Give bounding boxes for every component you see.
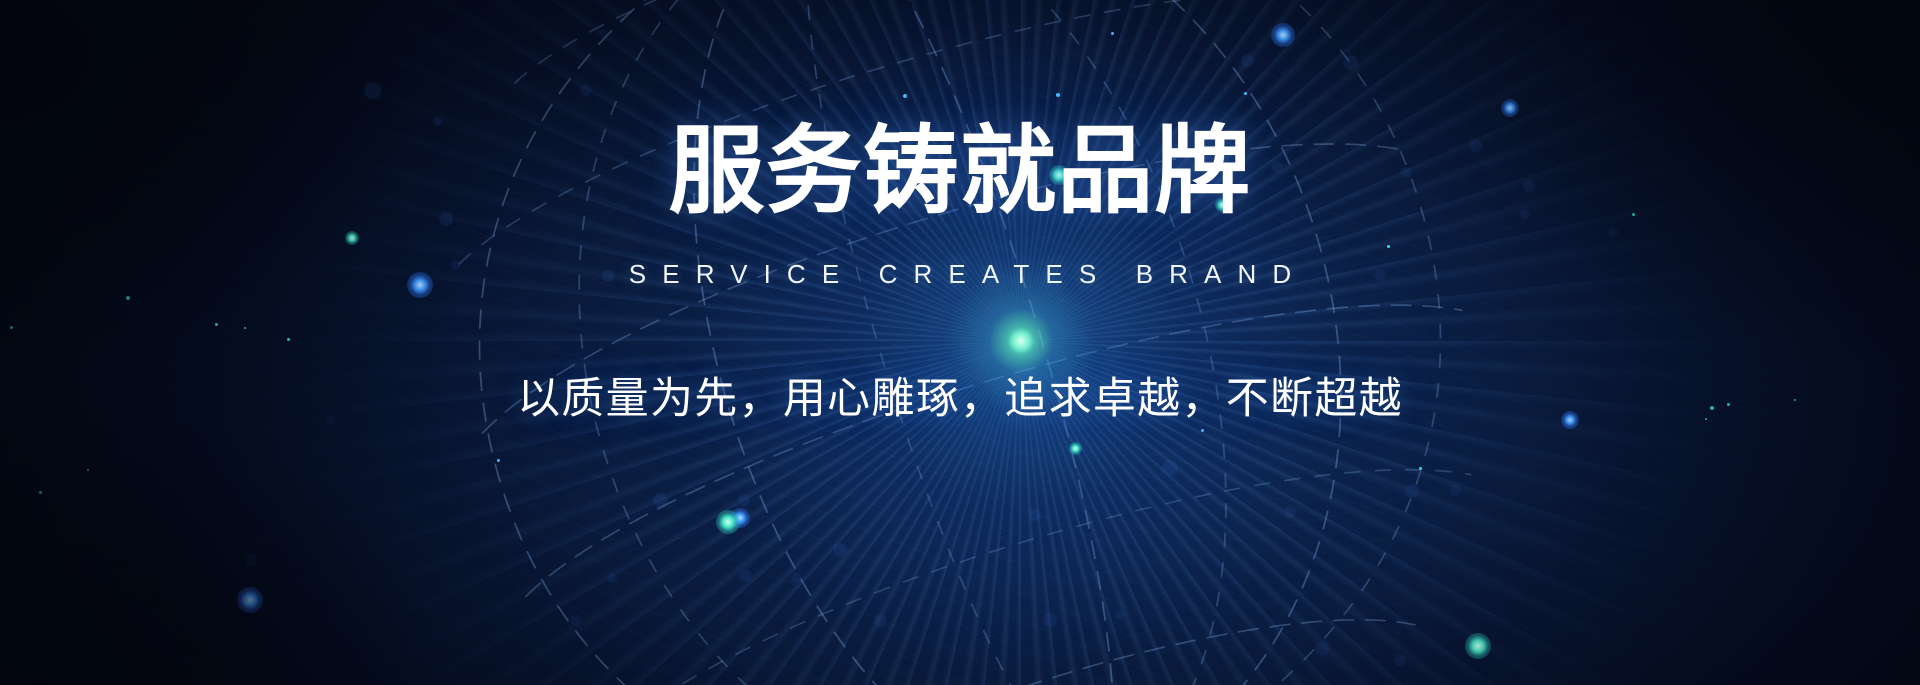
hero-banner: 服务铸就品牌 SERVICE CREATES BRAND 以质量为先，用心雕琢，… bbox=[0, 0, 1920, 685]
banner-subtitle-english: SERVICE CREATES BRAND bbox=[0, 261, 1920, 287]
banner-headline: 服务铸就品牌 bbox=[0, 124, 1920, 220]
banner-content: 服务铸就品牌 SERVICE CREATES BRAND 以质量为先，用心雕琢，… bbox=[0, 0, 1920, 685]
banner-tagline: 以质量为先，用心雕琢，追求卓越，不断超越 bbox=[0, 378, 1920, 421]
